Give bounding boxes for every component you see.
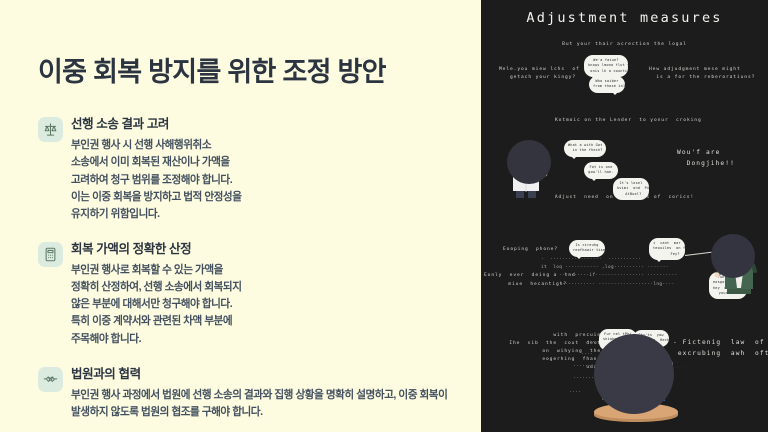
speech-bubble: Is cireuhg reofhaair tisen?: [569, 240, 605, 257]
illustration-title: Adjustment measures: [481, 10, 768, 26]
point-item-court-cooperation: 법원과의 협력 부인권 행사 과정에서 법원에 선행 소송의 결과와 집행 상황…: [38, 366, 451, 421]
illustration-caption-mid-right: Wou'f are Dongjihe!!: [677, 148, 735, 170]
illustration-subtitle: But your thair acrection the logal: [481, 41, 768, 49]
illustration-panel: Adjustment measures But your thair acrec…: [481, 0, 768, 432]
point-body: 법원과의 협력 부인권 행사 과정에서 법원에 선행 소송의 결과와 집행 상황…: [71, 366, 451, 421]
point-body: 선행 소송 결과 고려 부인권 행사 시 선행 사해행위취소 소송에서 이미 회…: [71, 116, 250, 223]
person-illustration-standing: [501, 132, 553, 198]
point-body: 회복 가액의 정확한 산정 부인권 행사로 회복할 수 있는 가액을 정확히 산…: [71, 241, 250, 348]
speech-bubble: We'a faiue? knows lmono flut youl onis l…: [584, 55, 628, 77]
person-illustration-pointing: [703, 232, 759, 294]
illustration-caption-mid: Kotmoic on the Lender to yonur croking: [555, 117, 702, 125]
illustration-caption-lower-row: miue hecantigh?: [501, 281, 567, 289]
point-title: 선행 소송 결과 고려: [71, 116, 250, 133]
speech-bubble: Who soiber from those in?: [589, 76, 625, 93]
handshake-icon: [38, 367, 63, 392]
slide-root: 이중 회복 방지를 위한 조정 방안 선행 소송 결과 고려 부인권 행사 시 …: [0, 0, 768, 432]
speech-bubble: Fot is one gow'll hae.: [584, 162, 618, 179]
calculator-icon: [38, 242, 63, 267]
illustration-caption-bottom-right: - Fictenig law of excrubing awh oftel;: [673, 338, 768, 360]
speech-bubble: i cant mar teouiles on fisg Fey?: [649, 238, 685, 260]
content-panel: 이중 회복 방지를 위한 조정 방안 선행 소송 결과 고려 부인권 행사 시 …: [0, 0, 481, 432]
dotted-line: ····: [569, 390, 581, 395]
page-title: 이중 회복 방지를 위한 조정 방안: [38, 56, 451, 88]
balance-scales-icon: [38, 117, 63, 142]
illustration-caption-right-top: Hew adjudgment mese might is a for the r…: [649, 66, 755, 82]
point-description: 부인권 행사 과정에서 법원에 선행 소송의 결과와 집행 상황을 명확히 설명…: [71, 387, 451, 421]
points-list: 선행 소송 결과 고려 부인권 행사 시 선행 사해행위취소 소송에서 이미 회…: [38, 116, 451, 421]
illustration-caption-lower-left: Eooping phone?: [503, 246, 558, 254]
point-item-accurate-calculation: 회복 가액의 정확한 산정 부인권 행사로 회복할 수 있는 가액을 정확히 산…: [38, 241, 250, 348]
point-title: 회복 가액의 정확한 산정: [71, 241, 250, 258]
speech-bubble: What a with Got in the fhech?: [564, 140, 606, 157]
point-title: 법원과의 협력: [71, 366, 451, 383]
dotted-line: ··········if················ ··········: [559, 273, 678, 278]
dotted-line: it loq ··········· ,log·········· ······…: [541, 265, 669, 270]
point-item-preceding-lawsuit: 선행 소송 결과 고려 부인권 행사 시 선행 사해행위취소 소송에서 이미 회…: [38, 116, 250, 223]
illustration-caption-mid-bottom: Adjust need on the caps of corics!: [481, 194, 768, 202]
illustration-caption-left-top: Mele.you miew lchs of getach your kingy?: [499, 66, 580, 82]
dotted-line: ············ ··················lng····: [559, 282, 675, 287]
point-description: 부인권 행사로 회복할 수 있는 가액을 정확히 산정하여, 선행 소송에서 회…: [71, 262, 250, 348]
person-illustration-pair-at-table: [586, 334, 686, 430]
dotted-line: · ················· ···········: [541, 257, 641, 262]
point-description: 부인권 행사 시 선행 사해행위취소 소송에서 이미 회복된 재산이나 가액을 …: [71, 137, 250, 223]
